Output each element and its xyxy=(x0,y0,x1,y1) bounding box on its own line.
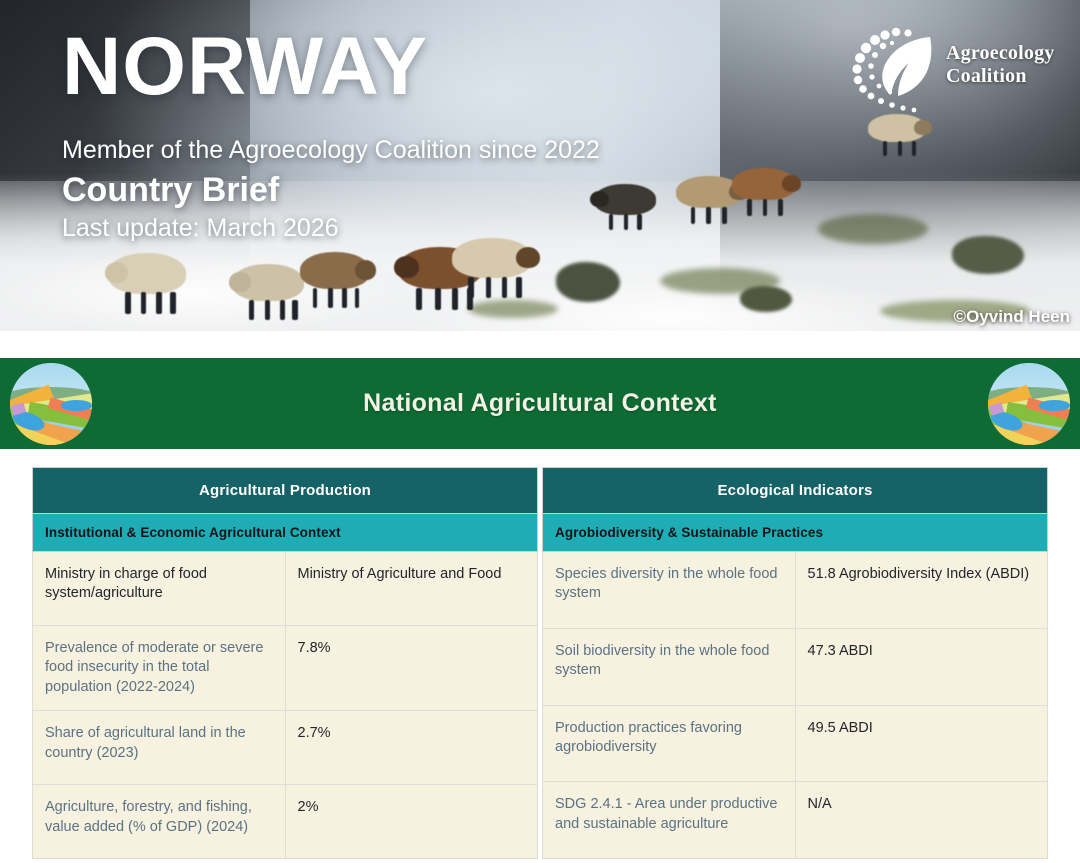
rock xyxy=(740,286,792,312)
table-row: Prevalence of moderate or severe food in… xyxy=(33,626,538,711)
membership-line: Member of the Agroecology Coalition sinc… xyxy=(62,136,600,165)
country-title: NORWAY xyxy=(62,26,600,108)
indicator-tables: Agricultural Production Institutional & … xyxy=(0,449,1080,859)
row-value: 7.8% xyxy=(285,626,538,711)
last-update-line: Last update: March 2026 xyxy=(62,214,600,243)
moss-patch xyxy=(818,214,928,244)
table-group-header: Agricultural Production xyxy=(33,468,538,514)
leaf-with-dot-spiral-icon xyxy=(846,24,942,116)
row-value: 47.3 ABDI xyxy=(795,628,1048,705)
photo-credit: ©Oyvind Heen xyxy=(954,307,1070,327)
agroecology-coalition-logo: Agroecology Coalition xyxy=(846,22,1046,118)
sheep-icon xyxy=(300,250,370,308)
row-label[interactable]: Soil biodiversity in the whole food syst… xyxy=(543,628,796,705)
section-title: National Agricultural Context xyxy=(363,389,717,418)
table-row: Production practices favoring agrobiodiv… xyxy=(543,705,1048,782)
table-group-header: Ecological Indicators xyxy=(543,468,1048,514)
sheep-icon xyxy=(232,262,304,320)
row-value: Ministry of Agriculture and Food xyxy=(285,552,538,626)
table-row: SDG 2.4.1 - Area under productive and su… xyxy=(543,782,1048,859)
row-value: 2.7% xyxy=(285,711,538,785)
row-label: Ministry in charge of food system/agricu… xyxy=(33,552,286,626)
hero-banner: Agroecology Coalition NORWAY Member of t… xyxy=(0,0,1080,331)
agroecology-landscape-badge-icon xyxy=(10,363,92,445)
agroecology-landscape-badge-icon xyxy=(988,363,1070,445)
row-value: 49.5 ABDI xyxy=(795,705,1048,782)
table-row: Agriculture, forestry, and fishing, valu… xyxy=(33,785,538,859)
logo-line-1: Agroecology xyxy=(946,42,1054,65)
sheep-icon xyxy=(452,236,532,298)
table-sub-header: Agrobiodiversity & Sustainable Practices xyxy=(543,514,1048,552)
section-banner: National Agricultural Context xyxy=(0,358,1080,449)
row-label[interactable]: Production practices favoring agrobiodiv… xyxy=(543,705,796,782)
table-row: Share of agricultural land in the countr… xyxy=(33,711,538,785)
rock xyxy=(952,236,1024,274)
row-value: 51.8 Agrobiodiversity Index (ABDI) xyxy=(795,552,1048,629)
rock xyxy=(556,262,620,302)
logo-wordmark: Agroecology Coalition xyxy=(946,42,1054,88)
table-sub-header: Institutional & Economic Agricultural Co… xyxy=(33,514,538,552)
row-label[interactable]: Prevalence of moderate or severe food in… xyxy=(33,626,286,711)
row-label[interactable]: SDG 2.4.1 - Area under productive and su… xyxy=(543,782,796,859)
table-row: Species diversity in the whole food syst… xyxy=(543,552,1048,629)
row-label[interactable]: Species diversity in the whole food syst… xyxy=(543,552,796,629)
row-value: 2% xyxy=(285,785,538,859)
ecological-indicators-table: Ecological Indicators Agrobiodiversity &… xyxy=(542,467,1048,859)
sheep-icon xyxy=(868,112,926,156)
row-value: N/A xyxy=(795,782,1048,859)
row-label[interactable]: Share of agricultural land in the countr… xyxy=(33,711,286,785)
sheep-icon xyxy=(108,250,186,314)
table-row: Soil biodiversity in the whole food syst… xyxy=(543,628,1048,705)
sheep-icon xyxy=(594,182,656,230)
agricultural-production-table: Agricultural Production Institutional & … xyxy=(32,467,538,859)
hero-text-block: NORWAY Member of the Agroecology Coaliti… xyxy=(62,26,600,243)
sheep-icon xyxy=(732,166,796,216)
table-row: Ministry in charge of food system/agricu… xyxy=(33,552,538,626)
row-label[interactable]: Agriculture, forestry, and fishing, valu… xyxy=(33,785,286,859)
logo-line-2: Coalition xyxy=(946,65,1054,88)
document-type-title: Country Brief xyxy=(62,171,600,210)
